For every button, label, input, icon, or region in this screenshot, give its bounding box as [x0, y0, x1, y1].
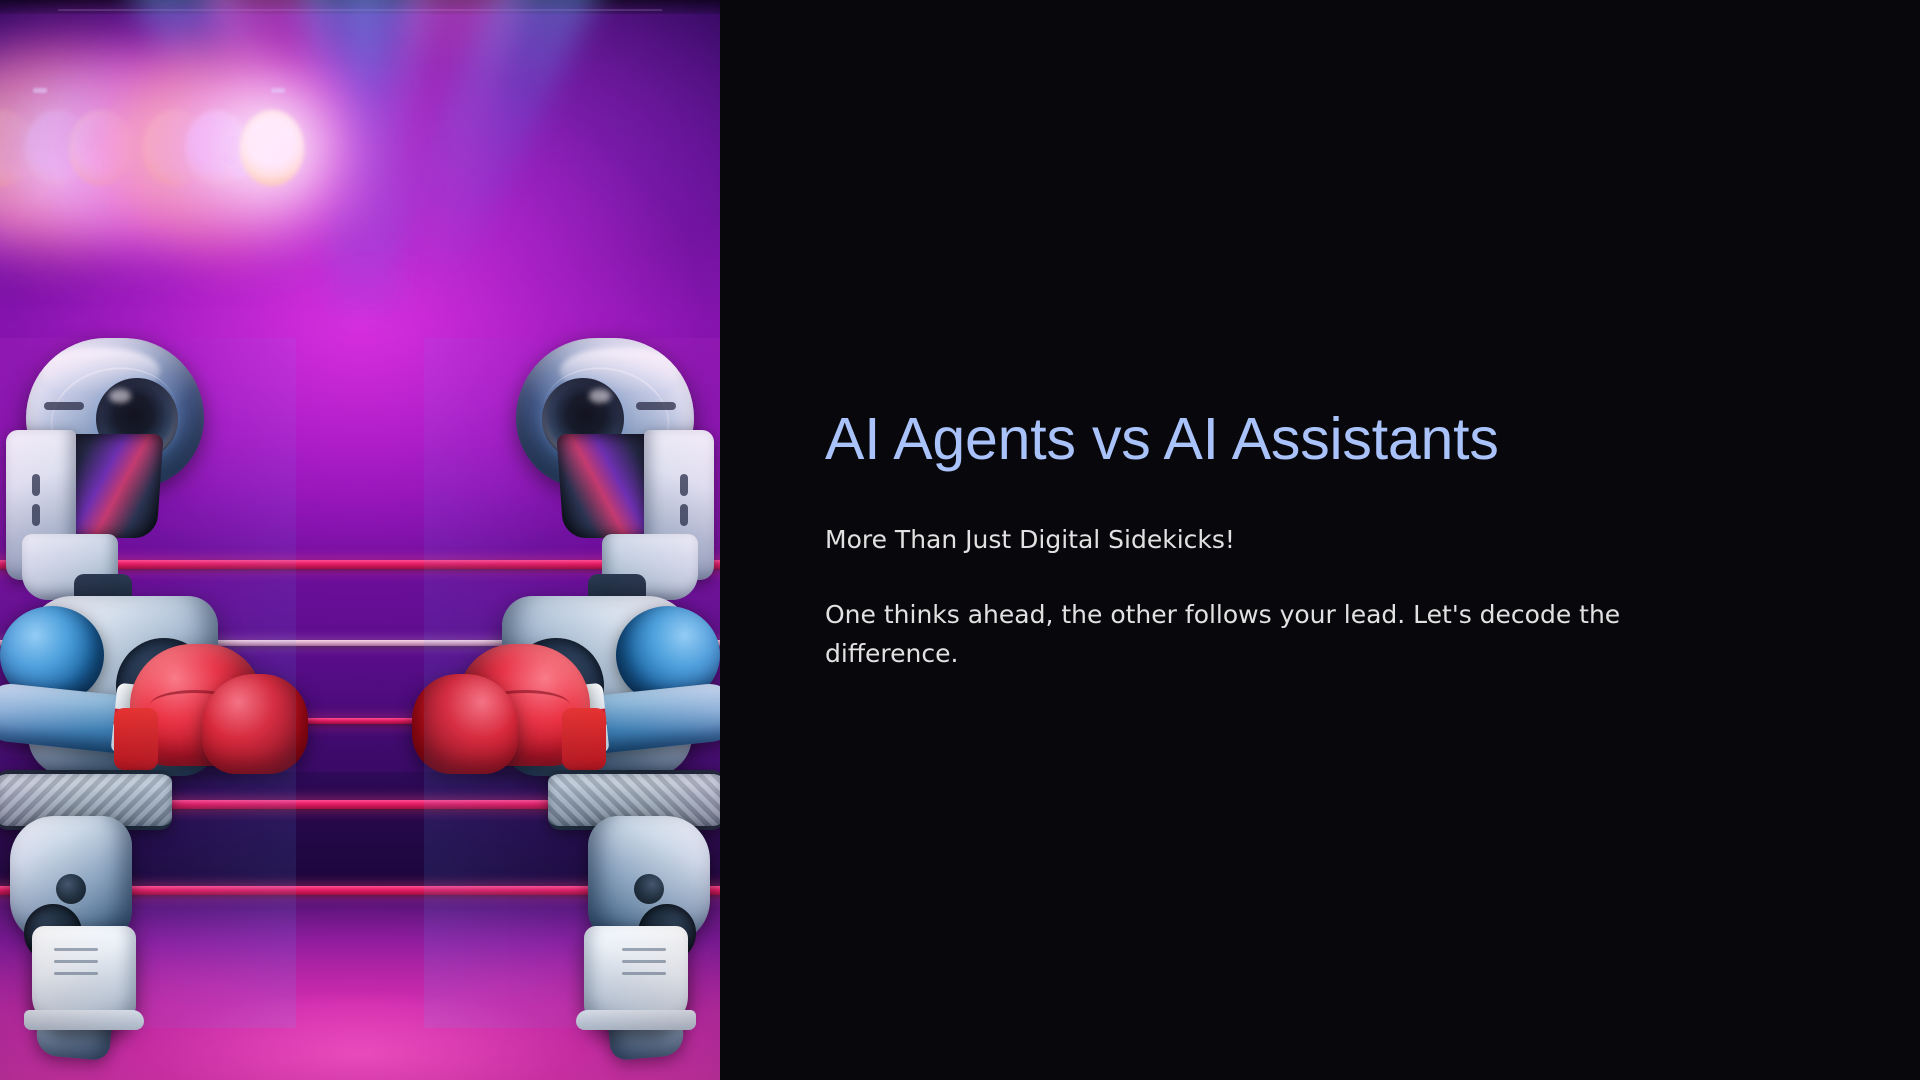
slide-root: AI Agents vs AI Assistants More Than Jus… — [0, 0, 1920, 1080]
truss-indicator-1 — [33, 88, 47, 93]
robot-boxer-left — [0, 338, 296, 1028]
boxing-glove-secondary-icon — [412, 674, 518, 774]
slide-subtitle: More Than Just Digital Sidekicks! — [825, 522, 1780, 558]
slide-content-panel: AI Agents vs AI Assistants More Than Jus… — [720, 0, 1920, 1080]
boxing-glove-secondary-icon — [202, 674, 308, 774]
stage-lights-row — [0, 96, 720, 216]
slide-body-text: One thinks ahead, the other follows your… — [825, 595, 1705, 674]
hero-image-boxing-robots — [0, 0, 720, 1080]
robot-boot — [584, 926, 688, 1030]
robot-boot — [32, 926, 136, 1030]
robot-boxer-right — [424, 338, 720, 1028]
truss-indicator-2 — [271, 88, 285, 93]
spotlight-6 — [229, 96, 315, 200]
page-title: AI Agents vs AI Assistants — [825, 406, 1780, 472]
